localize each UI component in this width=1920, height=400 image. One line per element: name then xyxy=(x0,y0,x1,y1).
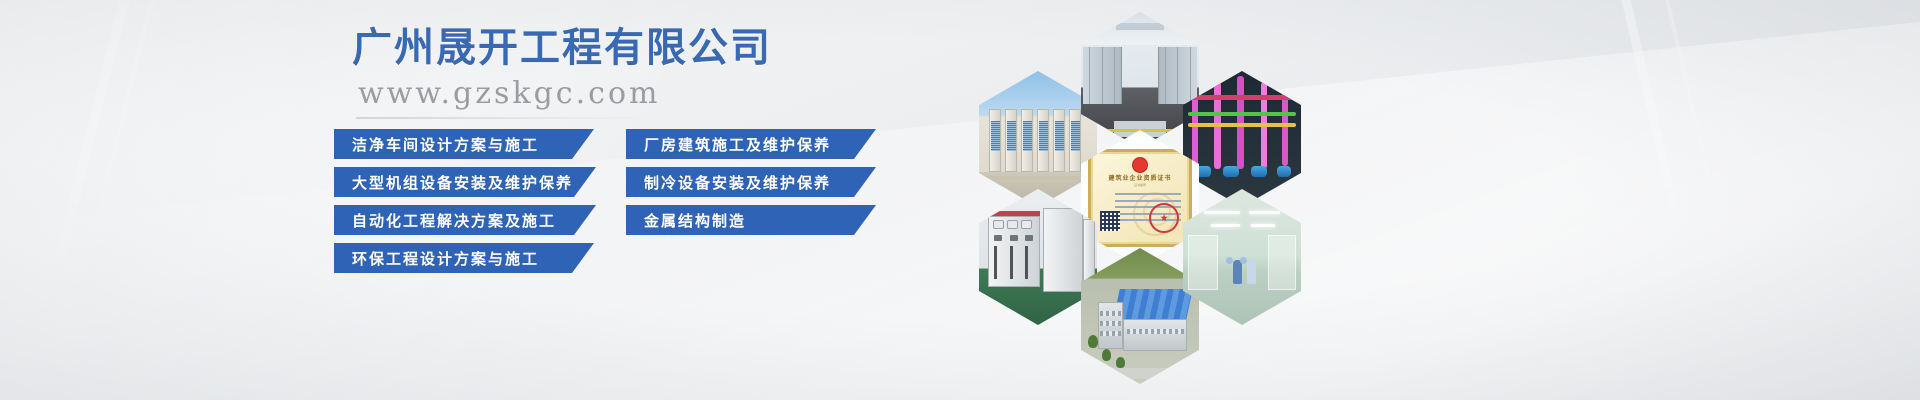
switchgear-room-hexagon xyxy=(1081,12,1199,148)
chiller-piping-hexagon xyxy=(1183,71,1301,207)
company-hero-banner: 广州晟开工程有限公司 www.gzskgc.com 洁净车间设计方案与施工 大型… xyxy=(0,0,1920,400)
red-seal-icon xyxy=(1149,203,1179,233)
cleanroom-hexagon xyxy=(1183,189,1301,325)
hvac-outdoor-units-hexagon xyxy=(979,71,1097,207)
service-item-large-unit-install[interactable]: 大型机组设备安装及维护保养 xyxy=(334,167,596,197)
service-column-right: 厂房建筑施工及维护保养 制冷设备安装及维护保养 金属结构制造 xyxy=(626,129,876,243)
hexagon-gallery: 建筑业企业资质证书 证书编号 xyxy=(930,0,1350,400)
service-item-automation[interactable]: 自动化工程解决方案及施工 xyxy=(334,205,596,235)
brand-text-block: 广州晟开工程有限公司 www.gzskgc.com xyxy=(352,26,892,119)
certificate-hexagon: 建筑业企业资质证书 证书编号 xyxy=(1081,130,1199,266)
certificate-title: 建筑业企业资质证书 xyxy=(1091,173,1189,182)
qr-code-icon xyxy=(1100,211,1120,231)
service-item-cleanroom-design[interactable]: 洁净车间设计方案与施工 xyxy=(334,129,594,159)
service-item-plant-construction[interactable]: 厂房建筑施工及维护保养 xyxy=(626,129,876,159)
certificate-card: 建筑业企业资质证书 证书编号 xyxy=(1088,149,1192,247)
company-name: 广州晟开工程有限公司 xyxy=(352,26,892,70)
service-list: 洁净车间设计方案与施工 大型机组设备安装及维护保养 自动化工程解决方案及施工 环… xyxy=(334,129,954,289)
national-emblem-icon xyxy=(1132,157,1148,173)
website-url[interactable]: www.gzskgc.com xyxy=(358,76,892,111)
service-item-environmental[interactable]: 环保工程设计方案与施工 xyxy=(334,243,594,273)
certificate-subtitle: 证书编号 xyxy=(1091,183,1189,187)
service-item-metal-structure[interactable]: 金属结构制造 xyxy=(626,205,876,235)
service-column-left: 洁净车间设计方案与施工 大型机组设备安装及维护保养 自动化工程解决方案及施工 环… xyxy=(334,129,596,281)
electrical-cabinets-hexagon xyxy=(979,189,1097,325)
divider-rule xyxy=(356,117,656,119)
service-item-refrigeration[interactable]: 制冷设备安装及维护保养 xyxy=(626,167,876,197)
factory-building-hexagon xyxy=(1081,248,1199,384)
